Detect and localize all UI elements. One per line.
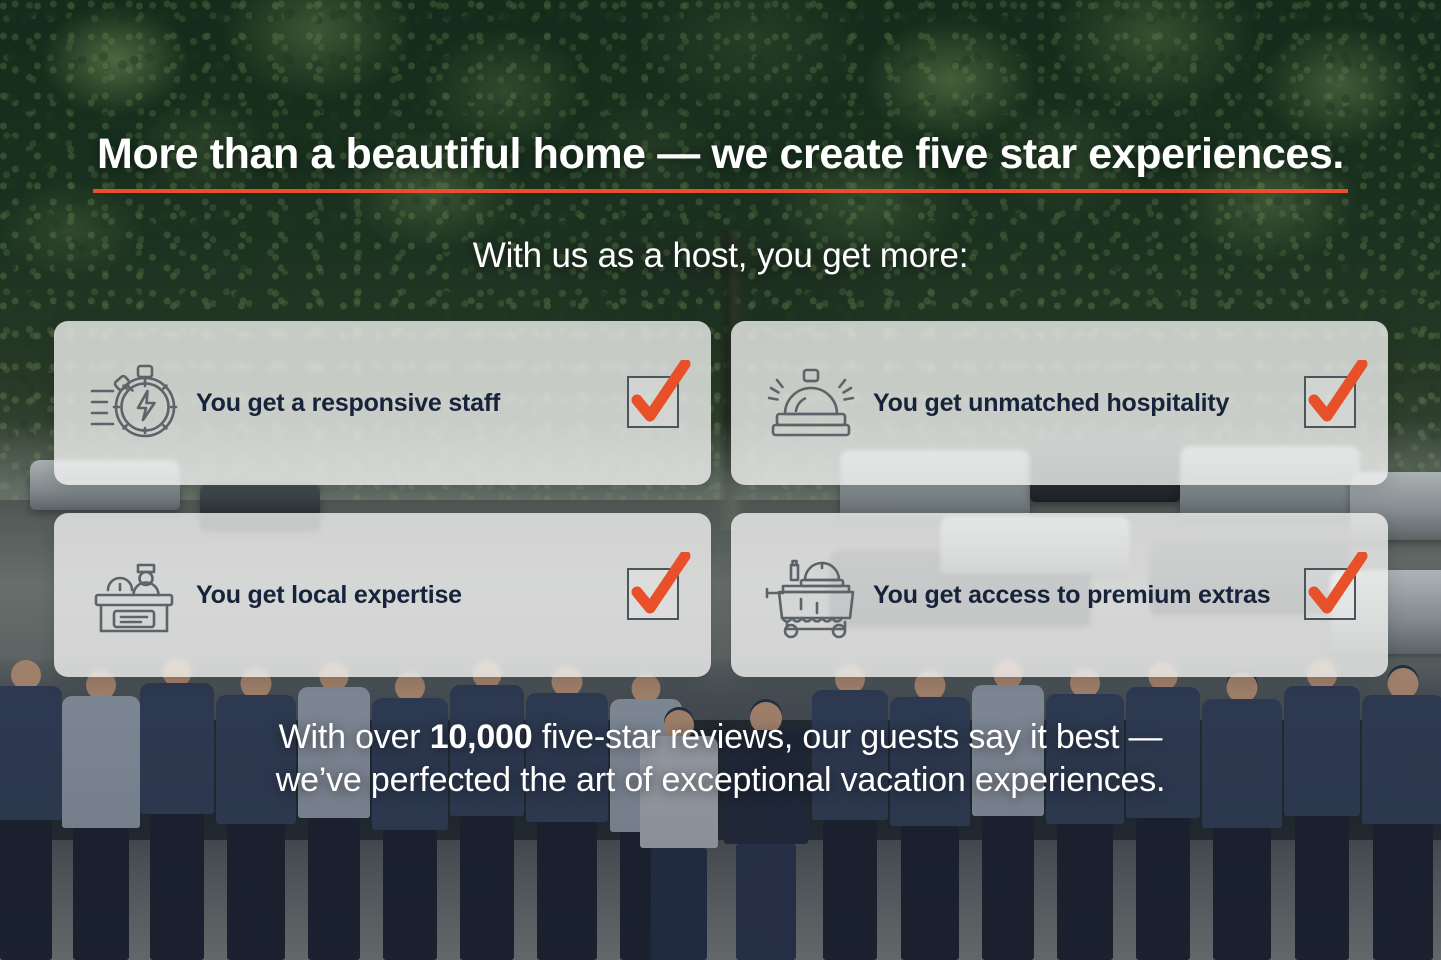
benefit-card-unmatched-hospitality[interactable]: You get unmatched hospitality — [731, 321, 1388, 485]
checkbox-responsive-staff[interactable] — [627, 376, 681, 430]
benefits-grid: You get a responsive staff — [54, 321, 1388, 677]
subheading: With us as a host, you get more: — [0, 236, 1441, 276]
service-bell-icon — [763, 363, 859, 443]
checkbox-unmatched-hospitality[interactable] — [1304, 376, 1358, 430]
benefit-label: You get unmatched hospitality — [859, 389, 1304, 418]
checkmark-icon — [625, 552, 697, 628]
closing-statement: With over 10,000 five-star reviews, our … — [0, 716, 1441, 801]
closing-line1-prefix: With over — [279, 718, 430, 756]
concierge-desk-icon — [86, 553, 182, 637]
benefit-card-local-expertise[interactable]: You get local expertise — [54, 513, 711, 677]
checkmark-icon — [625, 360, 697, 436]
benefit-card-premium-extras[interactable]: You get access to premium extras — [731, 513, 1388, 677]
benefit-label: You get access to premium extras — [859, 581, 1304, 610]
checkbox-local-expertise[interactable] — [627, 568, 681, 622]
checkmark-icon — [1302, 552, 1374, 628]
headline-container: More than a beautiful home — we create f… — [0, 130, 1441, 193]
checkmark-icon — [1302, 360, 1374, 436]
room-service-cart-icon — [763, 551, 859, 639]
closing-line1-suffix: five-star reviews, our guests say it bes… — [532, 718, 1162, 756]
page-title: More than a beautiful home — we create f… — [93, 130, 1348, 193]
benefit-label: You get local expertise — [182, 581, 627, 610]
benefit-card-responsive-staff[interactable]: You get a responsive staff — [54, 321, 711, 485]
closing-line2: we’ve perfected the art of exceptional v… — [276, 761, 1166, 799]
checkbox-premium-extras[interactable] — [1304, 568, 1358, 622]
review-count: 10,000 — [430, 718, 533, 756]
stopwatch-icon — [86, 361, 182, 445]
benefit-label: You get a responsive staff — [182, 389, 627, 418]
